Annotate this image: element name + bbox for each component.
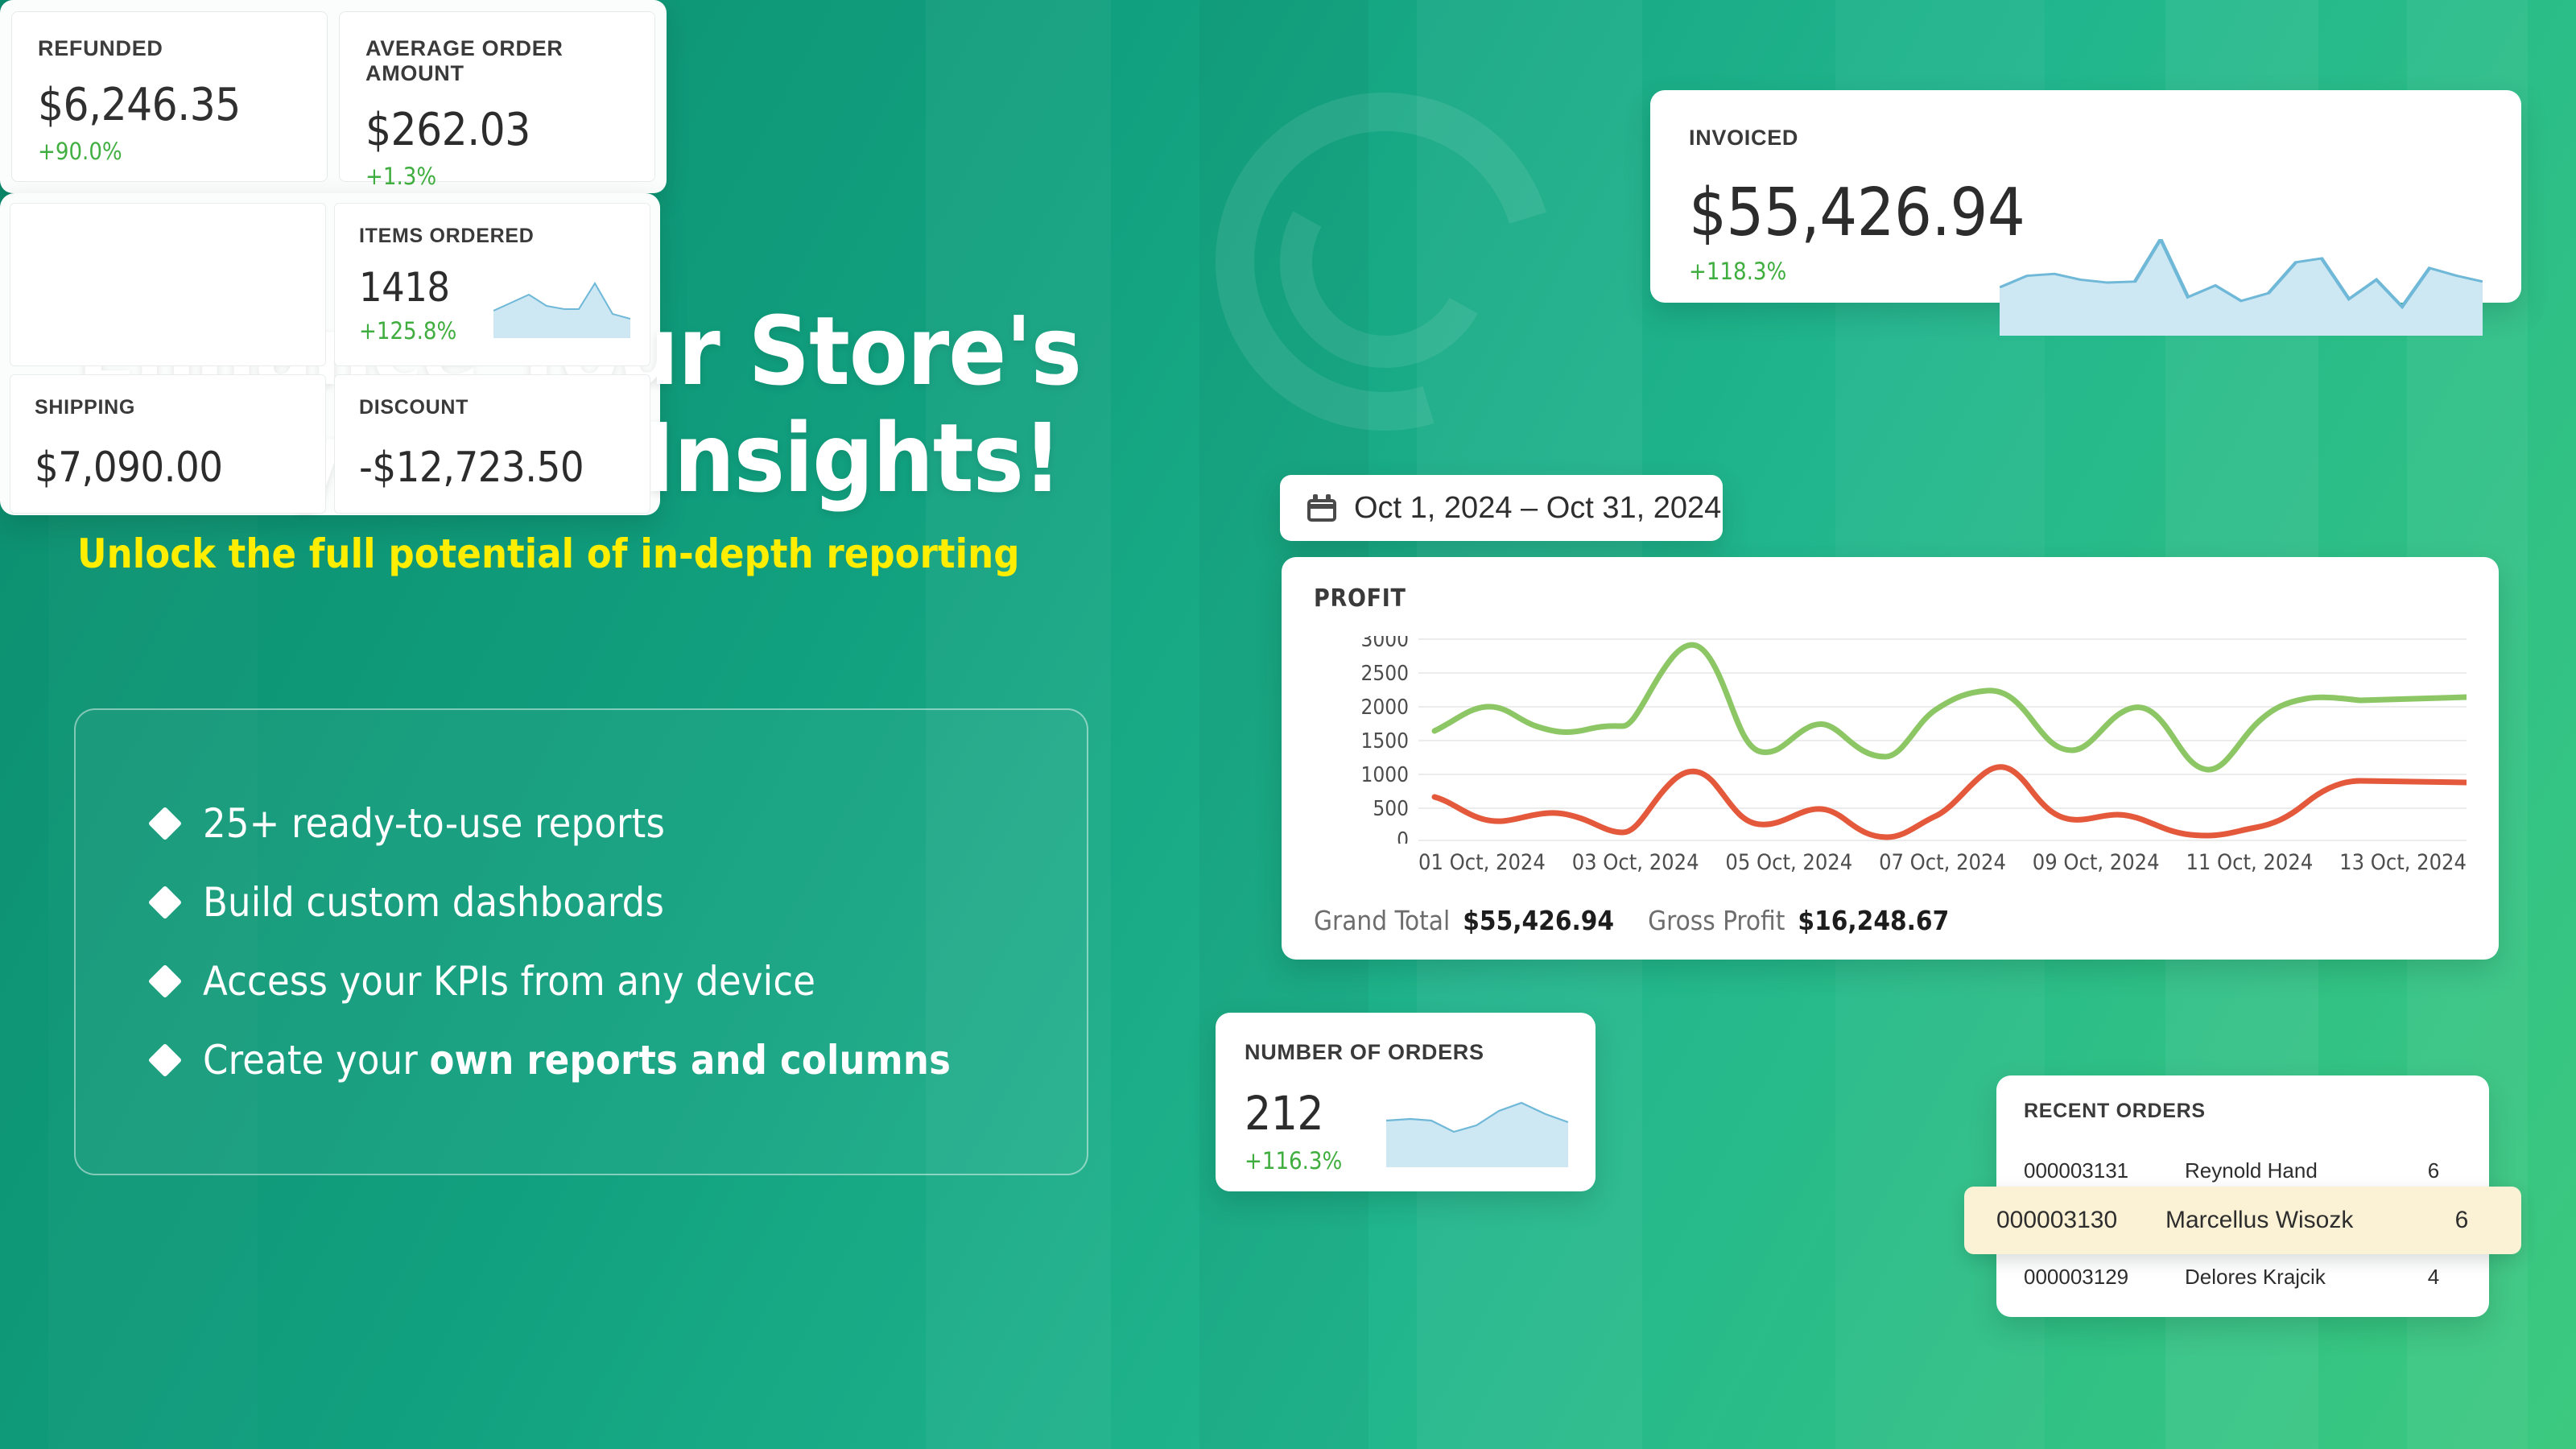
x-tick: 09 Oct, 2024 — [2033, 850, 2160, 875]
kpi-card-discount[interactable]: DISCOUNT -$12,723.50 — [334, 374, 650, 514]
date-range-label: Oct 1, 2024 – Oct 31, 2024 — [1354, 491, 1721, 526]
svg-text:500: 500 — [1373, 797, 1409, 821]
promo-banner: Enhance Your Store's Analytics & Insight… — [0, 0, 2576, 1449]
kpi-card-invoiced[interactable]: INVOICED $55,426.94 +118.3% — [1650, 90, 2521, 303]
cell-order-id: 000003131 — [2024, 1158, 2185, 1183]
kpi-label: INVOICED — [1689, 126, 2483, 151]
svg-text:1500: 1500 — [1360, 729, 1409, 753]
cell-customer: Marcellus Wisozk — [2165, 1207, 2429, 1234]
chart-card-profit[interactable]: PROFIT 3000 2500 2000 1500 1000 500 0 — [1282, 557, 2499, 960]
x-tick: 03 Oct, 2024 — [1572, 850, 1699, 875]
list-item-label: 25+ ready-to-use reports — [203, 800, 665, 847]
cell-order-id: 000003130 — [1996, 1207, 2165, 1234]
svg-text:0: 0 — [1397, 828, 1409, 844]
grand-total-label: Grand Total — [1314, 905, 1450, 936]
x-axis-tick-labels: 01 Oct, 2024 03 Oct, 2024 05 Oct, 2024 0… — [1418, 850, 2467, 875]
table-row-highlighted[interactable]: 000003130 Marcellus Wisozk 6 — [1964, 1187, 2521, 1254]
list-item-label: Build custom dashboards — [203, 879, 664, 926]
kpi-label: NUMBER OF ORDERS — [1245, 1040, 1567, 1065]
x-tick: 11 Oct, 2024 — [2186, 850, 2313, 875]
cell-qty: 6 — [2405, 1158, 2462, 1183]
kpi-value: -$12,723.50 — [359, 444, 625, 492]
table-row[interactable]: 000003129 Delores Krajcik 4 — [2024, 1250, 2462, 1303]
kpi-value: $7,090.00 — [35, 444, 301, 492]
svg-text:2000: 2000 — [1360, 696, 1409, 720]
x-tick: 01 Oct, 2024 — [1418, 850, 1546, 875]
x-tick: 07 Oct, 2024 — [1879, 850, 2006, 875]
sparkline-chart-invoiced — [2000, 239, 2483, 336]
chart-summary-footer: Grand Total $55,426.94 Gross Profit $16,… — [1314, 905, 1970, 936]
list-item: Create your own reports and columns — [153, 1037, 1087, 1084]
series-line-profit — [1435, 767, 2467, 837]
x-tick: 13 Oct, 2024 — [2339, 850, 2467, 875]
svg-text:1000: 1000 — [1360, 763, 1409, 787]
kpi-card-items-ordered[interactable]: ITEMS ORDERED 1418 +125.8% — [334, 203, 650, 366]
list-item: Access your KPIs from any device — [153, 958, 1087, 1005]
chart-title: PROFIT — [1314, 584, 2467, 613]
kpi-card-shipping[interactable]: SHIPPING $7,090.00 — [10, 374, 326, 514]
list-item: Build custom dashboards — [153, 879, 1087, 926]
cell-qty: 6 — [2429, 1207, 2494, 1234]
gross-profit-value: $16,248.67 — [1798, 905, 1949, 936]
x-tick: 05 Oct, 2024 — [1725, 850, 1852, 875]
table-title: RECENT ORDERS — [2024, 1100, 2462, 1123]
diamond-bullet-icon — [148, 964, 182, 998]
subheadline: Unlock the full potential of in-depth re… — [77, 530, 1220, 577]
list-item-label-prefix: Create your — [203, 1037, 429, 1084]
table-card-recent-orders[interactable]: RECENT ORDERS 000003131 Reynold Hand 6 0… — [1996, 1075, 2489, 1317]
sparkline-chart-items-ordered — [493, 280, 630, 338]
kpi-label: SHIPPING — [35, 396, 301, 419]
feature-list: 25+ ready-to-use reports Build custom da… — [74, 708, 1088, 1175]
gross-profit-label: Gross Profit — [1648, 905, 1785, 936]
y-axis-tick-labels: 3000 2500 2000 1500 1000 500 0 — [1360, 636, 1409, 844]
sparkline-chart-number-of-orders — [1386, 1096, 1568, 1167]
kpi-card-number-of-orders[interactable]: NUMBER OF ORDERS 212 +116.3% — [1216, 1013, 1596, 1191]
grand-total-value: $55,426.94 — [1463, 905, 1614, 936]
kpi-cell-placeholder — [10, 203, 326, 366]
kpi-label: DISCOUNT — [359, 396, 625, 419]
recent-orders-table: 000003131 Reynold Hand 6 000003129 Delor… — [2024, 1144, 2462, 1303]
diamond-bullet-icon — [148, 807, 182, 840]
svg-text:2500: 2500 — [1360, 662, 1409, 686]
diamond-bullet-icon — [148, 1043, 182, 1077]
date-range-picker[interactable]: Oct 1, 2024 – Oct 31, 2024 — [1280, 475, 1723, 541]
list-item: 25+ ready-to-use reports — [153, 800, 1087, 847]
svg-text:3000: 3000 — [1360, 636, 1409, 652]
cell-qty: 4 — [2405, 1265, 2462, 1290]
kpi-label: ITEMS ORDERED — [359, 225, 625, 248]
cell-customer: Reynold Hand — [2185, 1158, 2405, 1183]
cell-order-id: 000003129 — [2024, 1265, 2185, 1290]
calendar-icon — [1307, 494, 1336, 522]
cell-customer: Delores Krajcik — [2185, 1265, 2405, 1290]
diamond-bullet-icon — [148, 885, 182, 919]
list-item-label: Create your own reports and columns — [203, 1037, 951, 1084]
profit-line-chart: 3000 2500 2000 1500 1000 500 0 — [1314, 636, 2467, 844]
list-item-label-emphasis: own reports and columns — [429, 1037, 951, 1084]
list-item-label: Access your KPIs from any device — [203, 958, 815, 1005]
